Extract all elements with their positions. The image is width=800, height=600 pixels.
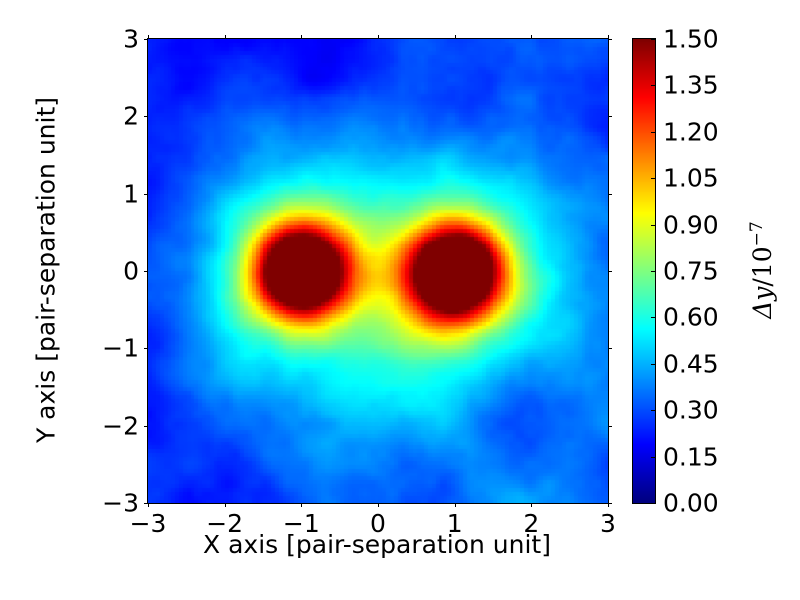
x-tick-mark-top bbox=[455, 35, 456, 39]
x-tick-mark-top bbox=[531, 35, 532, 39]
colorbar-tick-mark bbox=[651, 39, 655, 40]
x-tick-mark-top bbox=[148, 35, 149, 39]
y-tick-mark bbox=[144, 194, 148, 195]
heatmap-image bbox=[148, 39, 608, 503]
heatmap-axes bbox=[147, 38, 609, 504]
y-tick-mark bbox=[144, 271, 148, 272]
colorbar-tick-mark bbox=[651, 317, 655, 318]
colorbar-tick-mark bbox=[651, 457, 655, 458]
y-tick-mark-right bbox=[608, 426, 612, 427]
colorbar-tick-label: 0.30 bbox=[663, 398, 719, 423]
y-tick-mark-right bbox=[608, 194, 612, 195]
y-tick-label: −1 bbox=[102, 336, 139, 361]
colorbar-tick-label: 0.45 bbox=[663, 351, 719, 376]
colorbar-tick-label: 0.00 bbox=[663, 491, 719, 516]
y-tick-mark-right bbox=[608, 271, 612, 272]
y-tick-mark bbox=[144, 503, 148, 504]
x-tick-mark bbox=[455, 503, 456, 507]
colorbar-tick-label: 1.35 bbox=[663, 73, 719, 98]
y-tick-mark bbox=[144, 426, 148, 427]
colorbar-tick-label: 0.90 bbox=[663, 212, 719, 237]
x-tick-mark-top bbox=[378, 35, 379, 39]
y-tick-label: 2 bbox=[123, 104, 139, 129]
colorbar-label-divider: / bbox=[748, 278, 777, 286]
y-tick-label: 3 bbox=[123, 27, 139, 52]
figure-canvas: −3−2−10123 −3−2−10123 X axis [pair-separ… bbox=[0, 0, 800, 600]
y-tick-label: 1 bbox=[123, 181, 139, 206]
y-tick-mark bbox=[144, 39, 148, 40]
colorbar-tick-label: 1.50 bbox=[663, 27, 719, 52]
colorbar-tick-label: 0.75 bbox=[663, 259, 719, 284]
y-tick-mark bbox=[144, 348, 148, 349]
y-tick-mark-right bbox=[608, 39, 612, 40]
colorbar-tick-mark bbox=[651, 503, 655, 504]
x-tick-label: 3 bbox=[600, 511, 616, 536]
y-tick-mark-right bbox=[608, 116, 612, 117]
x-tick-mark-top bbox=[225, 35, 226, 39]
x-tick-mark bbox=[531, 503, 532, 507]
colorbar-tick-mark bbox=[651, 178, 655, 179]
y-tick-label: −2 bbox=[102, 413, 139, 438]
colorbar-tick-label: 0.15 bbox=[663, 444, 719, 469]
y-tick-mark-right bbox=[608, 348, 612, 349]
x-tick-mark bbox=[148, 503, 149, 507]
colorbar-tick-mark bbox=[651, 410, 655, 411]
colorbar-tick-mark bbox=[651, 271, 655, 272]
y-tick-label: 0 bbox=[123, 259, 139, 284]
y-tick-mark bbox=[144, 116, 148, 117]
colorbar-tick-mark bbox=[651, 132, 655, 133]
y-tick-label: −3 bbox=[102, 491, 139, 516]
y-axis-label: Y axis [pair-separation unit] bbox=[34, 97, 59, 443]
x-tick-mark bbox=[301, 503, 302, 507]
colorbar-label-symbol: Δy bbox=[748, 287, 777, 319]
x-tick-mark bbox=[378, 503, 379, 507]
x-tick-mark-top bbox=[301, 35, 302, 39]
colorbar-tick-mark bbox=[651, 364, 655, 365]
colorbar-tick-mark bbox=[651, 85, 655, 86]
colorbar-tick-label: 0.60 bbox=[663, 305, 719, 330]
colorbar-label-base: 10 bbox=[748, 246, 777, 278]
x-tick-mark bbox=[225, 503, 226, 507]
colorbar-label: Δy/10−7 bbox=[749, 221, 775, 319]
x-axis-label: X axis [pair-separation unit] bbox=[203, 532, 551, 557]
colorbar-label-exponent: −7 bbox=[747, 221, 767, 246]
colorbar-tick-mark bbox=[651, 225, 655, 226]
colorbar-tick-label: 1.05 bbox=[663, 166, 719, 191]
y-tick-mark-right bbox=[608, 503, 612, 504]
colorbar-tick-label: 1.20 bbox=[663, 119, 719, 144]
